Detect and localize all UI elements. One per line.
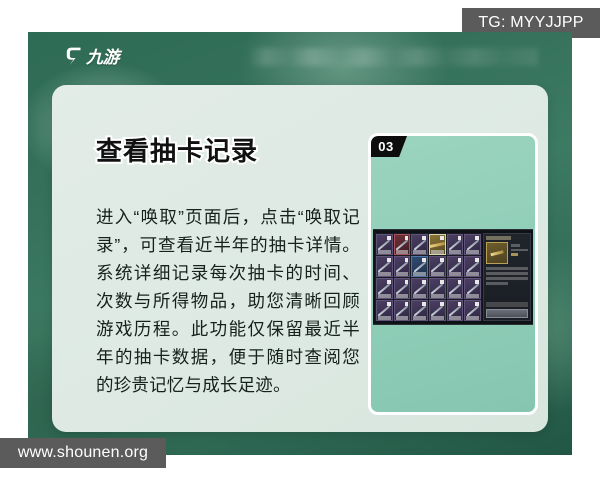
weapon-icon — [396, 305, 409, 316]
page-title: 查看抽卡记录 — [96, 138, 258, 164]
item-detail-footer — [486, 302, 528, 318]
text-column: 查看抽卡记录 进入“唤取”页面后，点击“唤取记录”，可查看近半年的抽卡详情。系统… — [72, 85, 350, 432]
item-name-label — [449, 316, 462, 320]
item-corner-marker — [405, 258, 409, 262]
inventory-item-cell[interactable] — [411, 234, 428, 255]
inventory-grid — [375, 233, 482, 321]
item-corner-marker — [422, 280, 426, 284]
header-blurred-text — [248, 48, 538, 66]
item-name-label — [396, 250, 409, 254]
item-name-label — [466, 294, 479, 298]
inventory-item-cell[interactable] — [394, 278, 411, 299]
inventory-item-cell[interactable] — [447, 300, 464, 321]
inventory-item-cell[interactable] — [394, 256, 411, 277]
item-name-label — [413, 316, 426, 320]
inventory-item-cell[interactable] — [464, 256, 481, 277]
inventory-item-cell[interactable] — [429, 278, 446, 299]
item-name-label — [466, 316, 479, 320]
item-action-button[interactable] — [486, 309, 528, 318]
step-number-badge: 03 — [371, 136, 407, 157]
item-corner-marker — [387, 302, 391, 306]
weapon-icon — [378, 283, 391, 294]
item-name-label — [378, 250, 391, 254]
inventory-item-cell[interactable] — [429, 256, 446, 277]
item-name-label — [378, 294, 391, 298]
content-card: 查看抽卡记录 进入“唤取”页面后，点击“唤取记录”，可查看近半年的抽卡详情。系统… — [52, 85, 548, 432]
inventory-item-cell[interactable] — [394, 300, 411, 321]
inventory-item-cell[interactable] — [376, 278, 393, 299]
inventory-item-cell[interactable] — [464, 234, 481, 255]
item-corner-marker — [440, 280, 444, 284]
item-name-label — [431, 250, 444, 254]
weapon-icon — [449, 305, 462, 316]
weapon-icon — [396, 261, 409, 272]
item-description-line — [486, 272, 528, 275]
inventory-item-cell[interactable] — [376, 256, 393, 277]
weapon-icon — [431, 283, 444, 294]
weapon-icon — [413, 305, 426, 316]
item-name-label — [449, 294, 462, 298]
inventory-item-cell[interactable] — [429, 234, 446, 255]
item-description-line — [486, 267, 528, 270]
item-name-label — [449, 272, 462, 276]
item-progress-bar — [486, 302, 528, 307]
weapon-icon — [429, 242, 445, 248]
weapon-icon — [449, 283, 462, 294]
item-rarity-line — [511, 253, 518, 256]
item-name-label — [413, 272, 426, 276]
item-corner-marker — [458, 258, 462, 262]
item-corner-marker — [475, 236, 479, 240]
inventory-item-cell[interactable] — [429, 300, 446, 321]
item-detail-summary — [486, 242, 528, 264]
poster-header: 九游 — [28, 32, 572, 84]
item-corner-marker — [405, 302, 409, 306]
item-name-label — [378, 272, 391, 276]
item-detail-title-bar — [486, 236, 511, 240]
item-name-label — [431, 294, 444, 298]
article-body-text: 进入“唤取”页面后，点击“唤取记录”，可查看近半年的抽卡详情。系统详细记录每次抽… — [96, 203, 360, 399]
item-corner-marker — [440, 302, 444, 306]
item-corner-marker — [475, 302, 479, 306]
inventory-item-cell[interactable] — [394, 234, 411, 255]
item-corner-marker — [458, 280, 462, 284]
poster-background: 九游 查看抽卡记录 进入“唤取”页面后，点击“唤取记录”，可查看近半年的抽卡详情… — [28, 32, 572, 455]
weapon-icon — [431, 261, 444, 272]
weapon-icon — [396, 283, 409, 294]
item-thumbnail — [486, 242, 508, 264]
inventory-item-cell[interactable] — [447, 256, 464, 277]
item-corner-marker — [422, 302, 426, 306]
inventory-item-cell[interactable] — [411, 278, 428, 299]
brand-logo: 九游 — [66, 43, 119, 68]
item-corner-marker — [458, 302, 462, 306]
screenshot-frame: 03 — [368, 133, 538, 415]
weapon-icon — [413, 283, 426, 294]
item-corner-marker — [475, 258, 479, 262]
item-meta-lines — [511, 242, 528, 264]
weapon-icon — [378, 261, 391, 272]
weapon-icon — [466, 283, 479, 294]
weapon-icon — [466, 239, 479, 250]
item-meta-line — [511, 244, 520, 247]
weapon-icon — [413, 239, 426, 250]
item-name-label — [466, 272, 479, 276]
item-name-label — [396, 272, 409, 276]
weapon-icon — [449, 239, 462, 250]
item-name-label — [378, 316, 391, 320]
weapon-icon — [466, 261, 479, 272]
game-screenshot-image — [373, 229, 533, 325]
item-meta-line — [511, 249, 528, 252]
item-corner-marker — [458, 236, 462, 240]
item-corner-marker — [387, 280, 391, 284]
screenshot-column: 03 — [368, 133, 538, 415]
weapon-icon — [378, 239, 391, 250]
item-corner-marker — [422, 236, 426, 240]
weapon-icon — [413, 261, 426, 272]
item-name-label — [449, 250, 462, 254]
item-description-line — [486, 282, 508, 285]
item-name-label — [431, 316, 444, 320]
inventory-item-cell[interactable] — [411, 256, 428, 277]
item-corner-marker — [475, 280, 479, 284]
weapon-icon — [396, 239, 409, 250]
lightning-g-logo-icon — [66, 46, 83, 66]
item-corner-marker — [387, 236, 391, 240]
item-description-line — [486, 277, 528, 280]
item-detail-panel — [483, 233, 531, 321]
item-corner-marker — [440, 236, 444, 240]
item-corner-marker — [422, 258, 426, 262]
brand-name: 九游 — [86, 43, 119, 68]
item-description-lines — [486, 267, 528, 285]
item-name-label — [466, 250, 479, 254]
item-corner-marker — [440, 258, 444, 262]
weapon-icon — [378, 305, 391, 316]
item-corner-marker — [405, 236, 409, 240]
inventory-item-cell[interactable] — [447, 234, 464, 255]
item-name-label — [413, 294, 426, 298]
item-name-label — [431, 272, 444, 276]
item-corner-marker — [387, 258, 391, 262]
inventory-item-cell[interactable] — [411, 300, 428, 321]
item-name-label — [396, 316, 409, 320]
inventory-item-cell[interactable] — [376, 300, 393, 321]
site-watermark: www.shounen.org — [0, 438, 166, 468]
weapon-icon — [431, 305, 444, 316]
inventory-item-cell[interactable] — [464, 300, 481, 321]
inventory-item-cell[interactable] — [447, 278, 464, 299]
item-name-label — [413, 250, 426, 254]
item-name-label — [396, 294, 409, 298]
weapon-icon — [449, 261, 462, 272]
inventory-item-cell[interactable] — [376, 234, 393, 255]
item-corner-marker — [405, 280, 409, 284]
inventory-item-cell[interactable] — [464, 278, 481, 299]
weapon-icon — [466, 305, 479, 316]
